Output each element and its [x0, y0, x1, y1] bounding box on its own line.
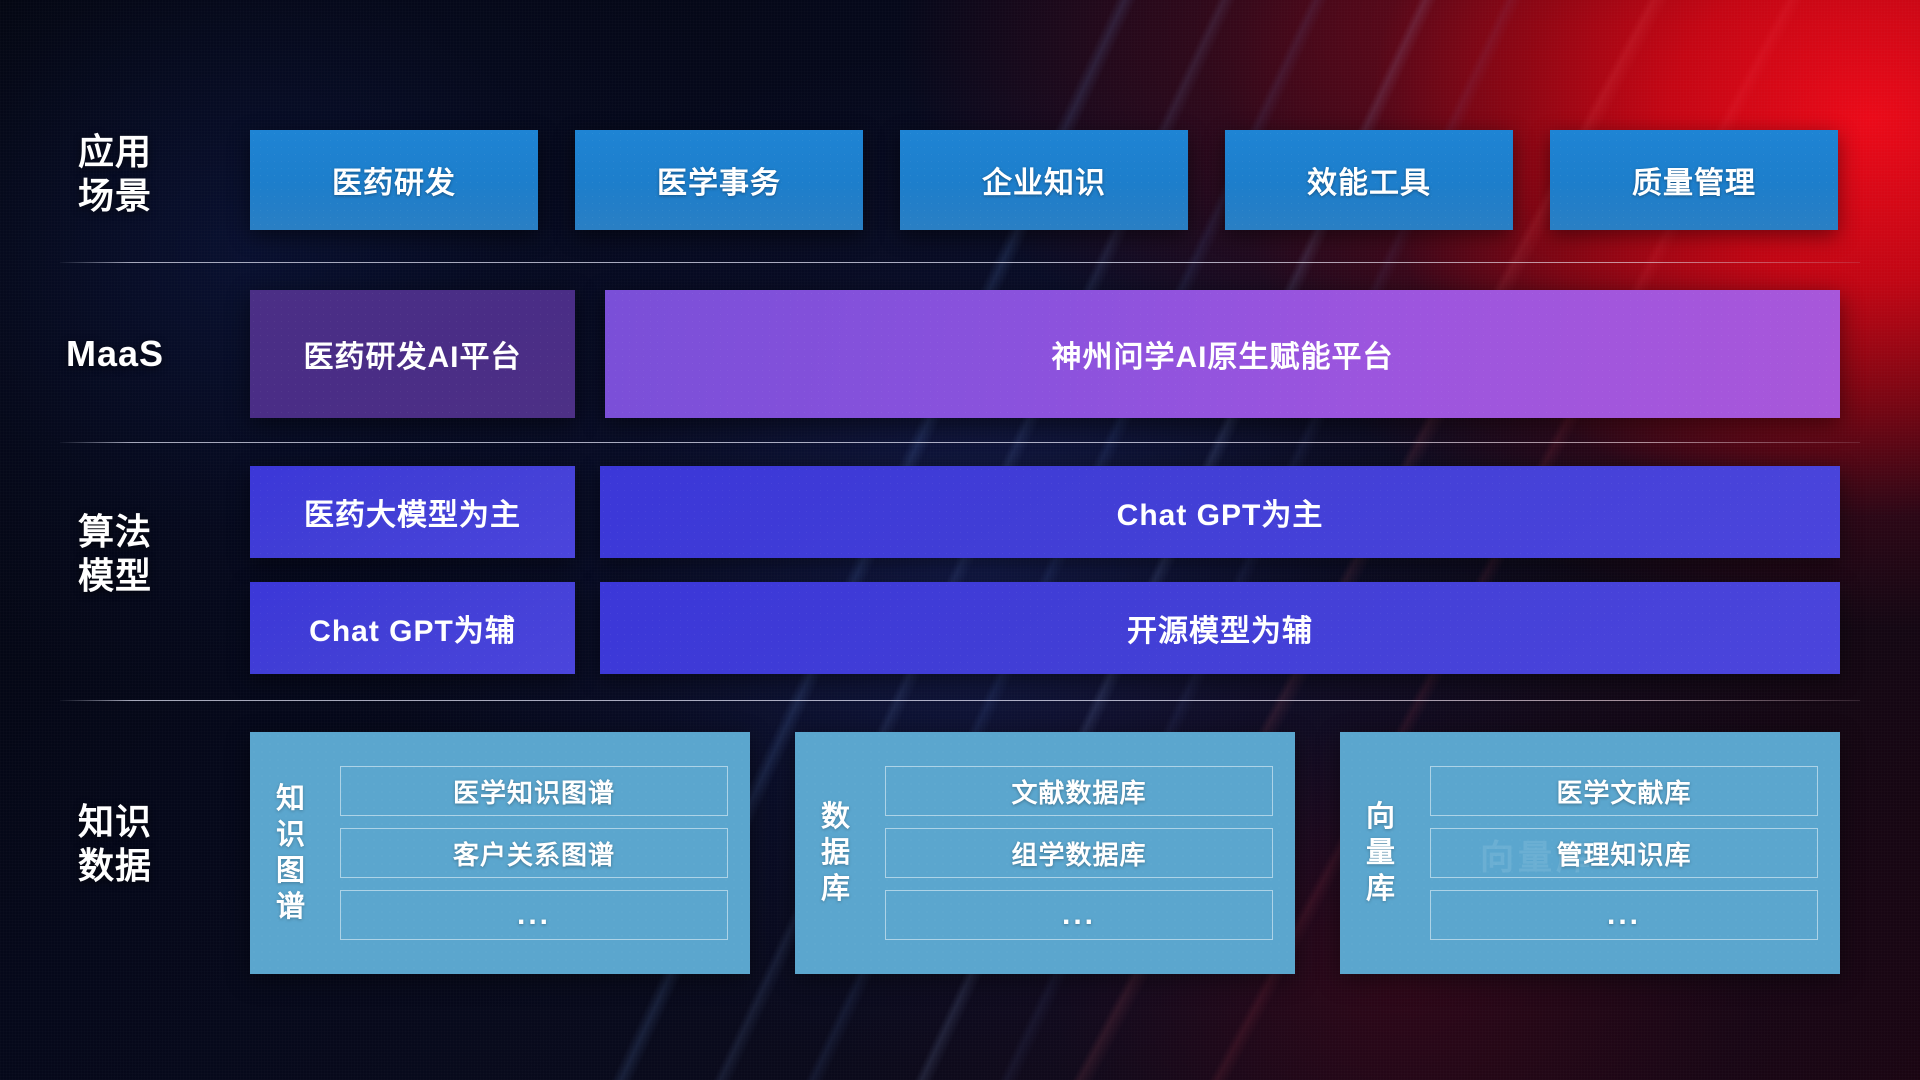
knowledge-panel-1-category: 数据库 [795, 799, 877, 907]
app-box-2-label: 企业知识 [982, 158, 1106, 202]
maas-right-box-label: 神州问学AI原生赋能平台 [1052, 332, 1394, 376]
architecture-diagram: 应用 场景 医药研发 医学事务 企业知识 效能工具 质量管理 MaaS 医药研发… [0, 0, 1920, 1080]
row-label-knowledge-line1: 知识 [40, 800, 190, 844]
app-box-4[interactable]: 质量管理 [1550, 130, 1838, 230]
app-box-0-label: 医药研发 [332, 158, 456, 202]
app-box-3-label: 效能工具 [1307, 158, 1431, 202]
app-box-1-label: 医学事务 [657, 158, 781, 202]
knowledge-panel-0[interactable]: 知识图谱 医学知识图谱 客户关系图谱 ... [250, 732, 750, 974]
maas-left-box-label: 医药研发AI平台 [304, 332, 522, 376]
app-box-3[interactable]: 效能工具 [1225, 130, 1513, 230]
knowledge-panel-0-item-1[interactable]: 客户关系图谱 [340, 828, 728, 878]
knowledge-panel-1-item-1[interactable]: 组学数据库 [885, 828, 1273, 878]
knowledge-panel-2[interactable]: 向量库 医学文献库 管理知识库 ... [1340, 732, 1840, 974]
knowledge-panel-2-items: 医学文献库 管理知识库 ... [1422, 750, 1840, 956]
knowledge-panel-2-item-2[interactable]: ... [1430, 890, 1818, 940]
algo-right-box-0[interactable]: Chat GPT为主 [600, 466, 1840, 558]
row-label-knowledge: 知识 数据 [40, 800, 190, 888]
knowledge-panel-2-category: 向量库 [1340, 799, 1422, 907]
knowledge-panel-0-item-2[interactable]: ... [340, 890, 728, 940]
knowledge-panel-0-item-0[interactable]: 医学知识图谱 [340, 766, 728, 816]
row-label-algorithm-line1: 算法 [40, 510, 190, 554]
divider-application-maas [60, 262, 1860, 263]
knowledge-panel-0-items: 医学知识图谱 客户关系图谱 ... [332, 750, 750, 956]
row-label-application-line1: 应用 [40, 130, 190, 174]
row-label-application: 应用 场景 [40, 130, 190, 218]
divider-maas-algorithm [60, 442, 1860, 443]
algo-left-box-0-label: 医药大模型为主 [304, 490, 521, 534]
knowledge-panel-2-item-1[interactable]: 管理知识库 [1430, 828, 1818, 878]
algo-left-box-0[interactable]: 医药大模型为主 [250, 466, 575, 558]
app-box-2[interactable]: 企业知识 [900, 130, 1188, 230]
divider-algorithm-knowledge [60, 700, 1860, 701]
knowledge-panel-1-item-0[interactable]: 文献数据库 [885, 766, 1273, 816]
knowledge-panel-1-items: 文献数据库 组学数据库 ... [877, 750, 1295, 956]
algo-left-box-1[interactable]: Chat GPT为辅 [250, 582, 575, 674]
knowledge-panel-1[interactable]: 数据库 文献数据库 组学数据库 ... [795, 732, 1295, 974]
knowledge-panel-0-category: 知识图谱 [250, 781, 332, 925]
knowledge-panel-2-item-0[interactable]: 医学文献库 [1430, 766, 1818, 816]
app-box-1[interactable]: 医学事务 [575, 130, 863, 230]
row-label-maas-text: MaaS [40, 332, 190, 376]
algo-right-box-0-label: Chat GPT为主 [1117, 490, 1324, 534]
row-label-algorithm-line2: 模型 [40, 554, 190, 598]
row-label-knowledge-line2: 数据 [40, 844, 190, 888]
algo-right-box-1-label: 开源模型为辅 [1127, 606, 1313, 650]
row-label-maas: MaaS [40, 332, 190, 376]
algo-right-box-1[interactable]: 开源模型为辅 [600, 582, 1840, 674]
maas-right-box[interactable]: 神州问学AI原生赋能平台 [605, 290, 1840, 418]
app-box-4-label: 质量管理 [1632, 158, 1756, 202]
row-label-algorithm: 算法 模型 [40, 510, 190, 598]
row-label-application-line2: 场景 [40, 174, 190, 218]
algo-left-box-1-label: Chat GPT为辅 [309, 606, 516, 650]
maas-left-box[interactable]: 医药研发AI平台 [250, 290, 575, 418]
knowledge-panel-1-item-2[interactable]: ... [885, 890, 1273, 940]
app-box-0[interactable]: 医药研发 [250, 130, 538, 230]
